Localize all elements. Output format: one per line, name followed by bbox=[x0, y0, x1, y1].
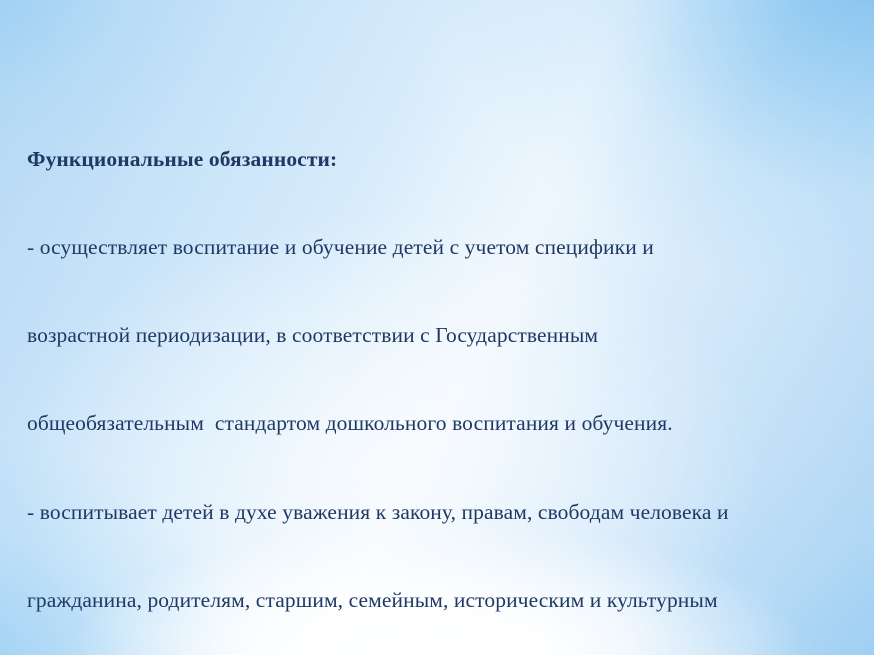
body-line-1: - осуществляет воспитание и обучение дет… bbox=[27, 233, 845, 262]
body-line-4: - воспитывает детей в духе уважения к за… bbox=[27, 498, 845, 527]
body-line-2: возрастной периодизации, в соответствии … bbox=[27, 321, 845, 350]
slide-canvas: Функциональные обязанности: - осуществля… bbox=[0, 0, 874, 655]
body-line-5: гражданина, родителям, старшим, семейным… bbox=[27, 586, 845, 615]
slide-heading: Функциональные обязанности: bbox=[27, 145, 845, 174]
slide-text-block: Функциональные обязанности: - осуществля… bbox=[27, 86, 845, 655]
body-line-3: общеобязательным стандартом дошкольного … bbox=[27, 409, 845, 438]
